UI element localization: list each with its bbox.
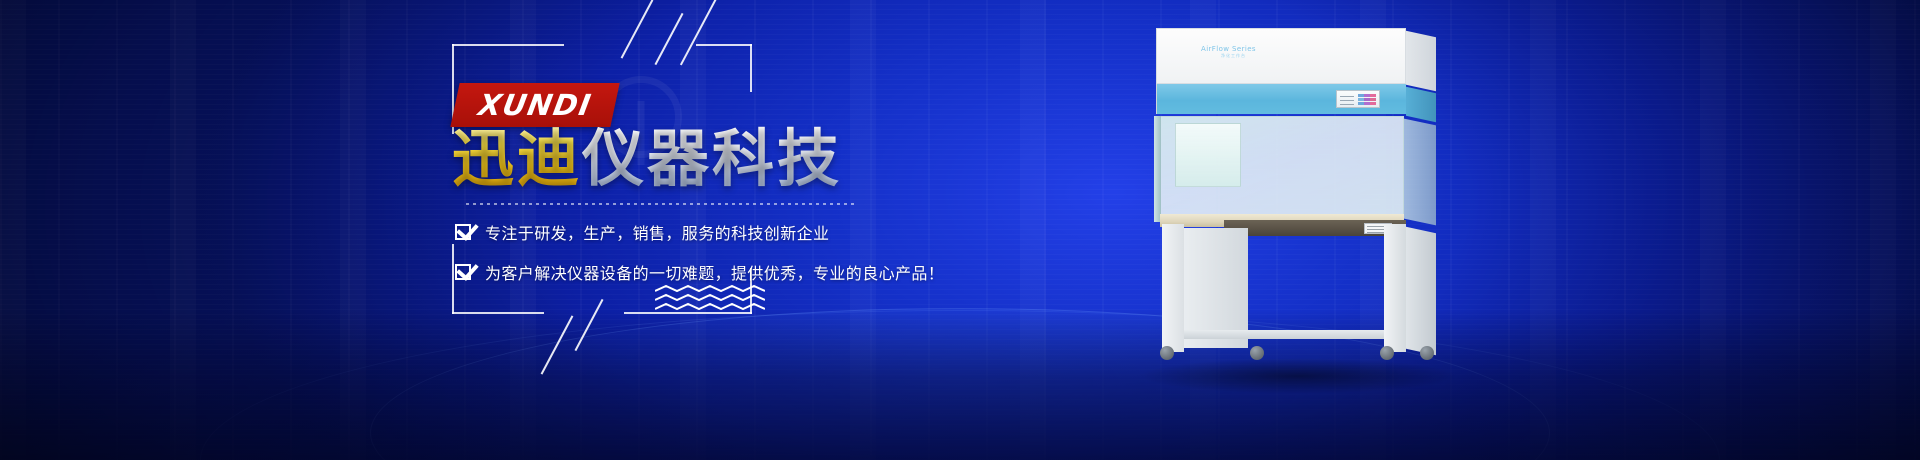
list-item: 为客户解决仪器设备的一切难题，提供优秀，专业的良心产品！ (455, 255, 944, 289)
product-top-side (1406, 31, 1436, 91)
title-divider (466, 203, 856, 205)
product-leg-right (1384, 224, 1406, 352)
list-item-label: 专注于研发，生产，销售，服务的科技创新企业 (485, 220, 829, 244)
list-item: 专注于研发，生产，销售，服务的科技创新企业 (455, 215, 944, 249)
product-brand-subtext: 净化工作台 (1221, 53, 1256, 59)
product-base-side (1406, 227, 1436, 355)
feature-bullet-list: 专注于研发，生产，销售，服务的科技创新企业 为客户解决仪器设备的一切难题，提供优… (455, 215, 944, 295)
product-caster (1250, 346, 1264, 360)
promo-banner: XUNDI 迅迪仪器科技 专注于研发，生产，销售，服务的科技创新企业 为客户解决… (0, 0, 1920, 460)
product-control-panel (1336, 90, 1380, 108)
list-item-label: 为客户解决仪器设备的一切难题，提供优秀，专业的良心产品！ (485, 260, 944, 284)
product-caster (1160, 346, 1174, 360)
product-caster (1420, 346, 1434, 360)
title-gold-part: 迅迪 (452, 122, 582, 195)
product-glass-side (1404, 119, 1436, 226)
background-vignette (0, 0, 1920, 460)
brand-logo-text: XUNDI (476, 88, 595, 122)
product-glass-edge (1154, 116, 1161, 222)
check-icon (455, 224, 471, 240)
title-silver-part: 仪器科技 (582, 122, 842, 195)
product-shadow (1138, 358, 1458, 394)
product-base-rail (1184, 330, 1384, 339)
product-image-clean-bench: AirFlow Series 净化工作台 (1128, 24, 1468, 384)
product-glass-reflection (1175, 123, 1241, 187)
product-brand-text: AirFlow Series (1201, 45, 1256, 53)
product-brand-label: AirFlow Series 净化工作台 (1201, 45, 1256, 59)
product-band-side (1406, 87, 1436, 122)
product-glass-chamber (1160, 116, 1404, 221)
product-top-panel: AirFlow Series 净化工作台 (1156, 28, 1406, 84)
product-caster (1380, 346, 1394, 360)
page-title: 迅迪仪器科技 (452, 128, 842, 190)
check-icon (455, 264, 471, 280)
brand-logo-badge: XUNDI (450, 83, 619, 127)
product-leg-left (1162, 224, 1184, 352)
